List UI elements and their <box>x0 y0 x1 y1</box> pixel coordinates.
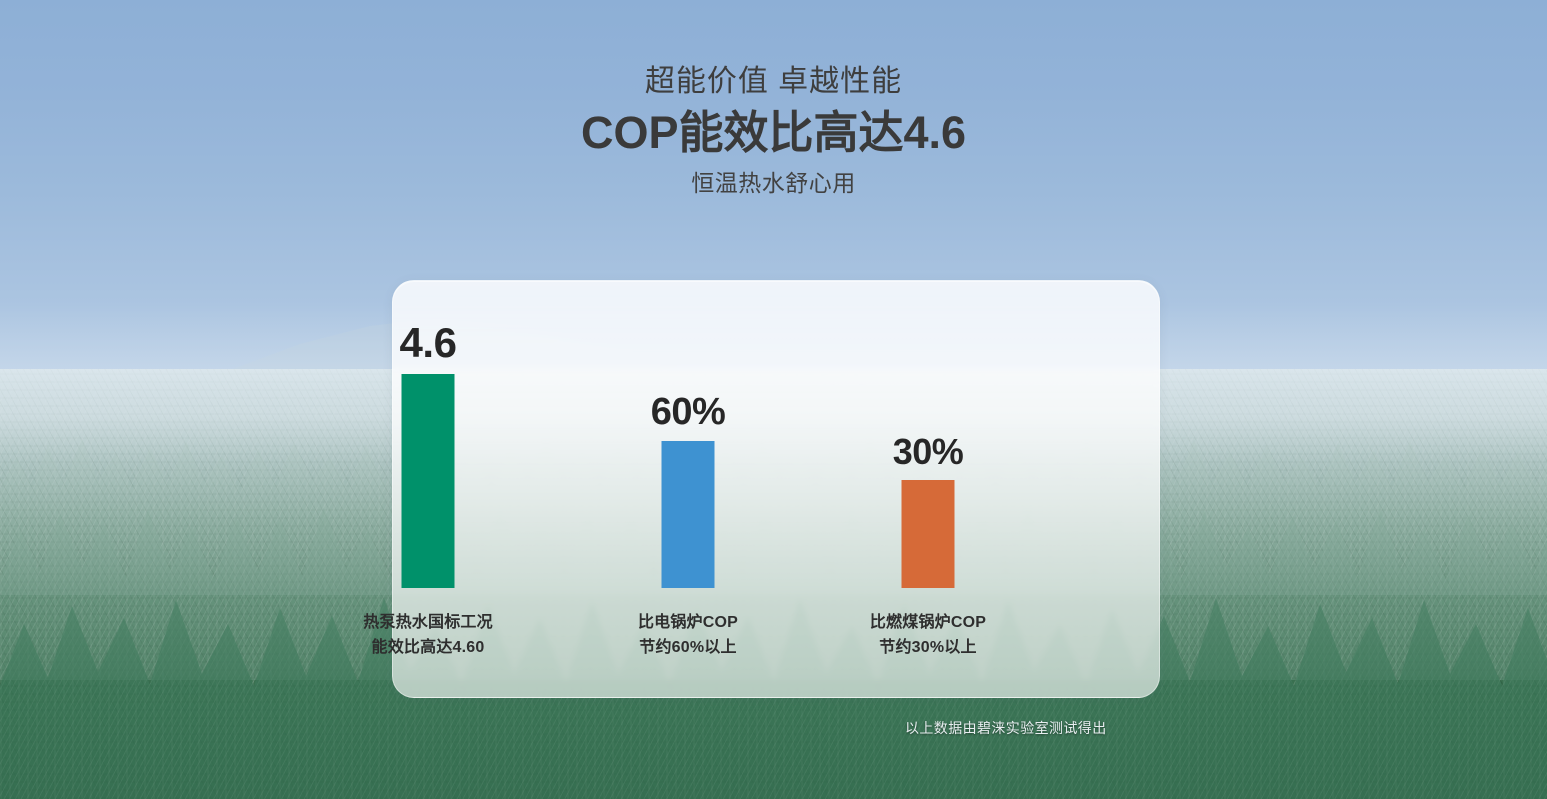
page-title: COP能效比高达4.6 <box>0 104 1547 162</box>
bar-caption-line1: 比燃煤锅炉COP <box>828 610 1028 635</box>
hero-heading-block: 超能价值 卓越性能 COP能效比高达4.6 恒温热水舒心用 <box>0 62 1547 199</box>
bar-rect <box>902 480 955 588</box>
bar-value-label: 60% <box>588 393 788 431</box>
bar-caption-line2: 节约30%以上 <box>828 635 1028 660</box>
bar-rect <box>402 374 455 588</box>
bar-chart: 4.6 热泵热水国标工况 能效比高达4.60 60% 比电锅炉COP 节约60%… <box>392 280 1160 698</box>
bar-value-label: 4.6 <box>328 322 528 364</box>
promo-banner: 超能价值 卓越性能 COP能效比高达4.6 恒温热水舒心用 4.6 热泵热水国标… <box>0 0 1547 799</box>
bar-value-label: 30% <box>828 434 1028 470</box>
footnote-text: 以上数据由碧涞实验室测试得出 <box>905 718 1107 738</box>
bar-rect <box>662 441 715 588</box>
bar-caption-line1: 热泵热水国标工况 <box>328 610 528 635</box>
bar-caption-line1: 比电锅炉COP <box>588 610 788 635</box>
bar-caption: 比燃煤锅炉COP 节约30%以上 <box>828 610 1028 661</box>
hero-subtitle: 恒温热水舒心用 <box>0 168 1547 199</box>
hero-eyebrow: 超能价值 卓越性能 <box>0 62 1547 102</box>
bar-caption: 热泵热水国标工况 能效比高达4.60 <box>328 610 528 661</box>
bar-caption-line2: 节约60%以上 <box>588 635 788 660</box>
bar-caption: 比电锅炉COP 节约60%以上 <box>588 610 788 661</box>
bar-caption-line2: 能效比高达4.60 <box>328 635 528 660</box>
